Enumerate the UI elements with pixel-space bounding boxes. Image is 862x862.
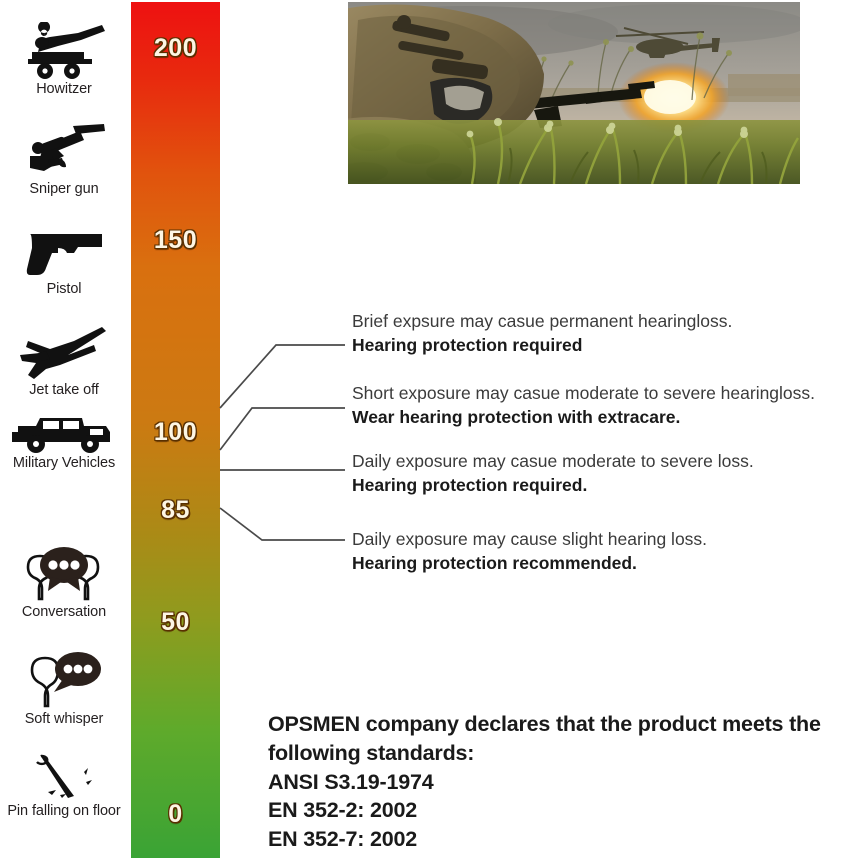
connector-line-1 bbox=[220, 345, 345, 408]
connector-line-4 bbox=[220, 508, 345, 540]
callout-block-4: Daily exposure may cause slight hearing … bbox=[352, 528, 862, 575]
standards-line: following standards: bbox=[268, 739, 862, 768]
callout-action: Hearing protection required. bbox=[352, 474, 862, 498]
standards-line: ANSI S3.19-1974 bbox=[268, 768, 862, 797]
source-item-conversation: Conversation bbox=[0, 543, 128, 620]
source-label: Military Vehicles bbox=[0, 455, 128, 471]
jet-icon bbox=[0, 325, 128, 381]
connector-line-2 bbox=[220, 408, 345, 450]
infographic-page: Howitzer Sniper gun bbox=[0, 0, 862, 862]
noise-source-column: Howitzer Sniper gun bbox=[0, 0, 128, 862]
source-label: Pistol bbox=[0, 281, 128, 297]
source-item-pin-falling: Pin falling on floor bbox=[0, 752, 128, 819]
standards-declaration: OPSMEN company declares that the product… bbox=[268, 710, 862, 854]
pistol-icon bbox=[0, 222, 128, 280]
source-item-pistol: Pistol bbox=[0, 222, 128, 297]
source-item-military-vehicle: Military Vehicles bbox=[0, 412, 128, 471]
sniper-gun-icon bbox=[0, 122, 128, 180]
source-label: Sniper gun bbox=[0, 181, 128, 197]
callout-action: Wear hearing protection with extracare. bbox=[352, 406, 862, 430]
standards-line: EN 352-2: 2002 bbox=[268, 796, 862, 825]
source-label: Conversation bbox=[0, 604, 128, 620]
callout-block-1: Brief expsure may casue permanent hearin… bbox=[352, 310, 862, 357]
noise-scale-bar: 200 150 100 85 50 0 bbox=[131, 2, 220, 858]
source-label: Soft whisper bbox=[0, 711, 128, 727]
scale-tick-150: 150 bbox=[131, 226, 220, 255]
source-item-soft-whisper: Soft whisper bbox=[0, 650, 128, 727]
source-label: Jet take off bbox=[0, 382, 128, 398]
pin-falling-icon bbox=[0, 752, 128, 802]
soft-whisper-icon bbox=[0, 650, 128, 710]
callout-action: Hearing protection required bbox=[352, 334, 862, 358]
callout-description: Daily exposure may cause slight hearing … bbox=[352, 528, 862, 552]
scale-tick-0: 0 bbox=[131, 800, 220, 829]
source-item-jet: Jet take off bbox=[0, 325, 128, 398]
source-item-sniper-gun: Sniper gun bbox=[0, 122, 128, 197]
scale-tick-200: 200 bbox=[131, 34, 220, 63]
scale-tick-100: 100 bbox=[131, 418, 220, 447]
military-vehicle-icon bbox=[0, 412, 128, 454]
standards-line: EN 352-7: 2002 bbox=[268, 825, 862, 854]
howitzer-icon bbox=[0, 22, 128, 80]
standards-line: OPSMEN company declares that the product… bbox=[268, 710, 862, 739]
callout-action: Hearing protection recommended. bbox=[352, 552, 862, 576]
callout-block-3: Daily exposure may casue moderate to sev… bbox=[352, 450, 862, 497]
callout-description: Short exposure may casue moderate to sev… bbox=[352, 382, 862, 406]
source-label: Howitzer bbox=[0, 81, 128, 97]
battlefield-photo bbox=[348, 2, 800, 184]
callout-block-2: Short exposure may casue moderate to sev… bbox=[352, 382, 862, 429]
callout-description: Brief expsure may casue permanent hearin… bbox=[352, 310, 862, 334]
source-item-howitzer: Howitzer bbox=[0, 22, 128, 97]
scale-tick-50: 50 bbox=[131, 608, 220, 637]
conversation-icon bbox=[0, 543, 128, 603]
scale-tick-85: 85 bbox=[131, 496, 220, 525]
source-label: Pin falling on floor bbox=[0, 803, 128, 819]
callout-description: Daily exposure may casue moderate to sev… bbox=[352, 450, 862, 474]
